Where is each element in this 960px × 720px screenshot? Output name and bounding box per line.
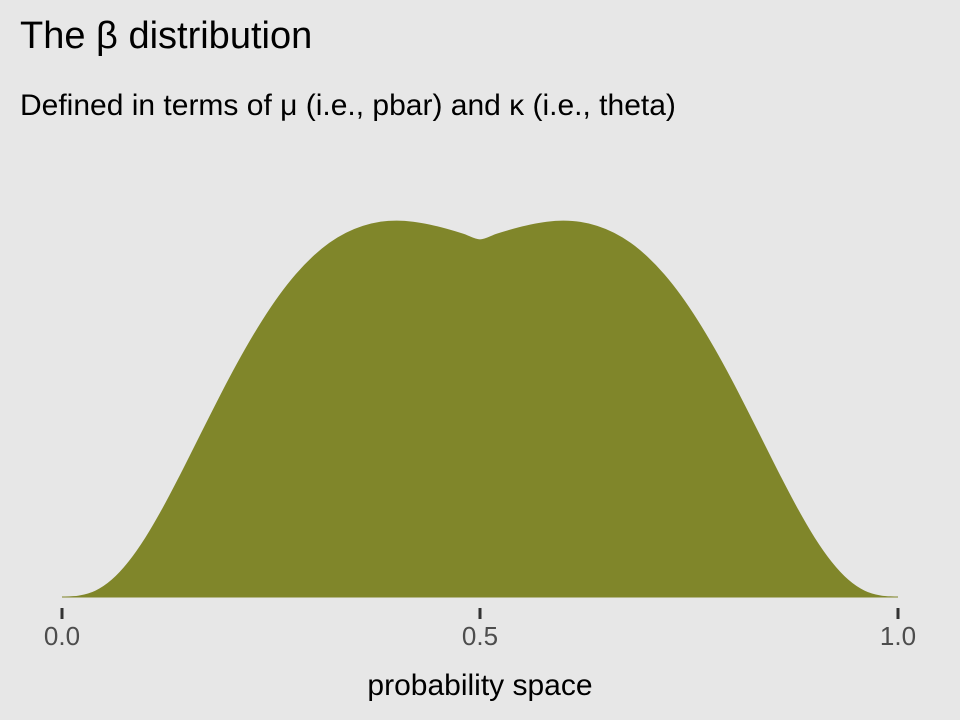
beta-distribution-chart: 0.00.51.0 probability space — [0, 130, 960, 720]
x-axis-tick-label: 0.5 — [462, 621, 498, 651]
x-axis-tick-mark — [61, 608, 64, 619]
x-axis-title: probability space — [367, 669, 592, 702]
page-subtitle: Defined in terms of μ (i.e., pbar) and κ… — [20, 88, 676, 124]
x-axis-tick-label: 0.0 — [44, 621, 80, 651]
density-area-path — [62, 221, 898, 597]
slide-root: The β distribution Defined in terms of μ… — [0, 0, 960, 720]
x-axis-tick-mark — [897, 608, 900, 619]
x-axis-tick-marks — [61, 608, 900, 619]
chart-svg: 0.00.51.0 probability space — [0, 130, 960, 720]
x-axis-tick-label: 1.0 — [880, 621, 916, 651]
page-title: The β distribution — [20, 14, 312, 58]
x-axis-tick-mark — [479, 608, 482, 619]
x-axis-tick-labels: 0.00.51.0 — [44, 621, 916, 651]
density-area-group — [62, 221, 898, 597]
